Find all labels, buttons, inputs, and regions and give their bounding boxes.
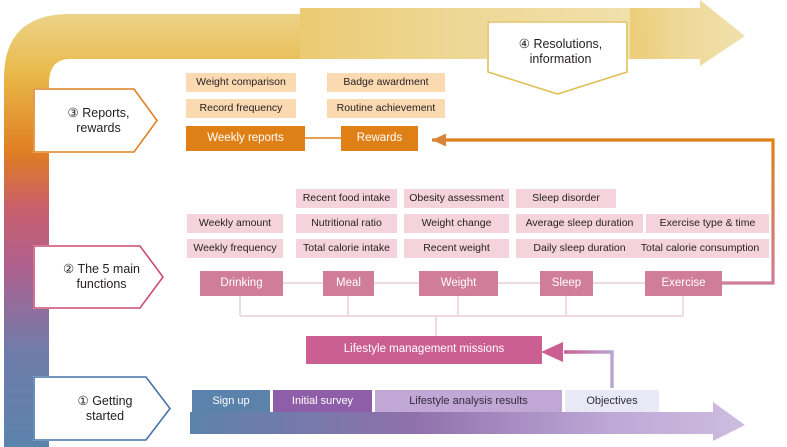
chip-function-exercise[interactable]: Exercise (645, 271, 722, 296)
stage-number-3: ③ (68, 106, 79, 120)
chip-average-sleep-duration[interactable]: Average sleep duration (516, 214, 643, 233)
chip-weekly-frequency[interactable]: Weekly frequency (187, 239, 283, 258)
chip-objectives[interactable]: Objectives (565, 390, 659, 412)
stage-number-4: ④ (519, 37, 530, 51)
chip-lifestyle-analysis-results[interactable]: Lifestyle analysis results (375, 390, 562, 412)
chip-function-drinking[interactable]: Drinking (200, 271, 283, 296)
diagram-canvas: ③ Reports, rewards ② The 5 main function… (0, 0, 787, 447)
stage-label-reports-line1: Reports, (82, 106, 129, 120)
stage-label-five-line2: functions (76, 277, 126, 291)
chip-weekly-amount[interactable]: Weekly amount (187, 214, 283, 233)
chip-weekly-reports[interactable]: Weekly reports (186, 126, 305, 151)
chip-initial-survey[interactable]: Initial survey (273, 390, 372, 412)
stage-callout-resolutions[interactable]: ④ Resolutions, information (487, 21, 628, 95)
chip-function-weight[interactable]: Weight (419, 271, 498, 296)
chip-sign-up[interactable]: Sign up (192, 390, 270, 412)
stage-callout-getting-started[interactable]: ① Getting started (33, 376, 171, 441)
stage-label-res-line2: information (530, 52, 592, 66)
stage-number-2: ② (63, 262, 74, 276)
top-arrowhead (620, 0, 745, 66)
chip-sleep-disorder[interactable]: Sleep disorder (516, 189, 616, 208)
chip-total-calorie-intake[interactable]: Total calorie intake (296, 239, 397, 258)
chip-function-meal[interactable]: Meal (323, 271, 374, 296)
chip-lifestyle-management-missions[interactable]: Lifestyle management missions (306, 336, 542, 364)
chip-routine-achievement[interactable]: Routine achievement (327, 99, 445, 118)
chip-weight-change[interactable]: Weight change (404, 214, 509, 233)
stage-callout-reports-rewards[interactable]: ③ Reports, rewards (33, 88, 158, 153)
stage-label-start-line1: Getting (92, 394, 132, 408)
chip-function-sleep[interactable]: Sleep (540, 271, 593, 296)
chip-exercise-type-time[interactable]: Exercise type & time (646, 214, 769, 233)
chip-daily-sleep-duration[interactable]: Daily sleep duration (516, 239, 643, 258)
chip-weight-comparison[interactable]: Weight comparison (186, 73, 296, 92)
chip-total-calorie-consumption[interactable]: Total calorie consumption (631, 239, 769, 258)
chip-record-frequency[interactable]: Record frequency (186, 99, 296, 118)
chip-rewards[interactable]: Rewards (341, 126, 418, 151)
chip-recent-weight[interactable]: Recent weight (404, 239, 509, 258)
stage-label-reports-line2: rewards (76, 121, 120, 135)
stage-label-start-line2: started (86, 409, 124, 423)
stage-label-five-line1: The 5 main (77, 262, 140, 276)
chip-nutritional-ratio[interactable]: Nutritional ratio (296, 214, 397, 233)
chip-badge-awardment[interactable]: Badge awardment (327, 73, 445, 92)
stage-callout-five-functions[interactable]: ② The 5 main functions (33, 245, 164, 309)
chip-recent-food-intake[interactable]: Recent food intake (296, 189, 397, 208)
stage-number-1: ① (77, 394, 88, 408)
stage-label-res-line1: Resolutions, (533, 37, 602, 51)
chip-obesity-assessment[interactable]: Obesity assessment (404, 189, 509, 208)
